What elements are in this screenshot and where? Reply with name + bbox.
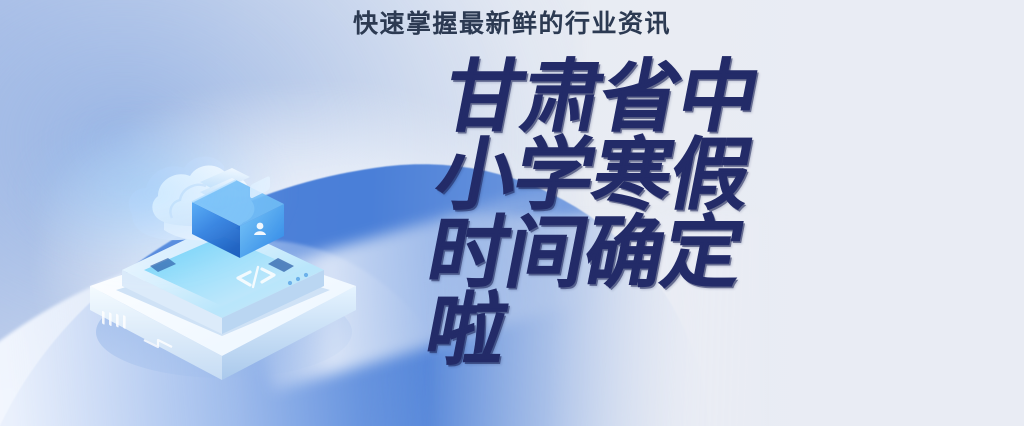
headline-line-3: 时间确定 (422, 214, 905, 292)
cloud-data-platform-illustration (72, 118, 372, 386)
subtitle-container: 快速掌握最新鲜的行业资讯 (0, 9, 1024, 40)
subtitle-text: 快速掌握最新鲜的行业资讯 (353, 10, 671, 38)
promo-banner: 快速掌握最新鲜的行业资讯 甘肃省中 小学寒假 时间确定 啦 (0, 0, 1024, 426)
headline: 甘肃省中 小学寒假 时间确定 啦 (420, 58, 890, 369)
headline-line-4: 啦 (420, 291, 905, 369)
headline-line-2: 小学寒假 (430, 136, 905, 214)
subtitle: 快速掌握最新鲜的行业资讯 (353, 9, 671, 40)
headline-line-1: 甘肃省中 (438, 58, 905, 136)
